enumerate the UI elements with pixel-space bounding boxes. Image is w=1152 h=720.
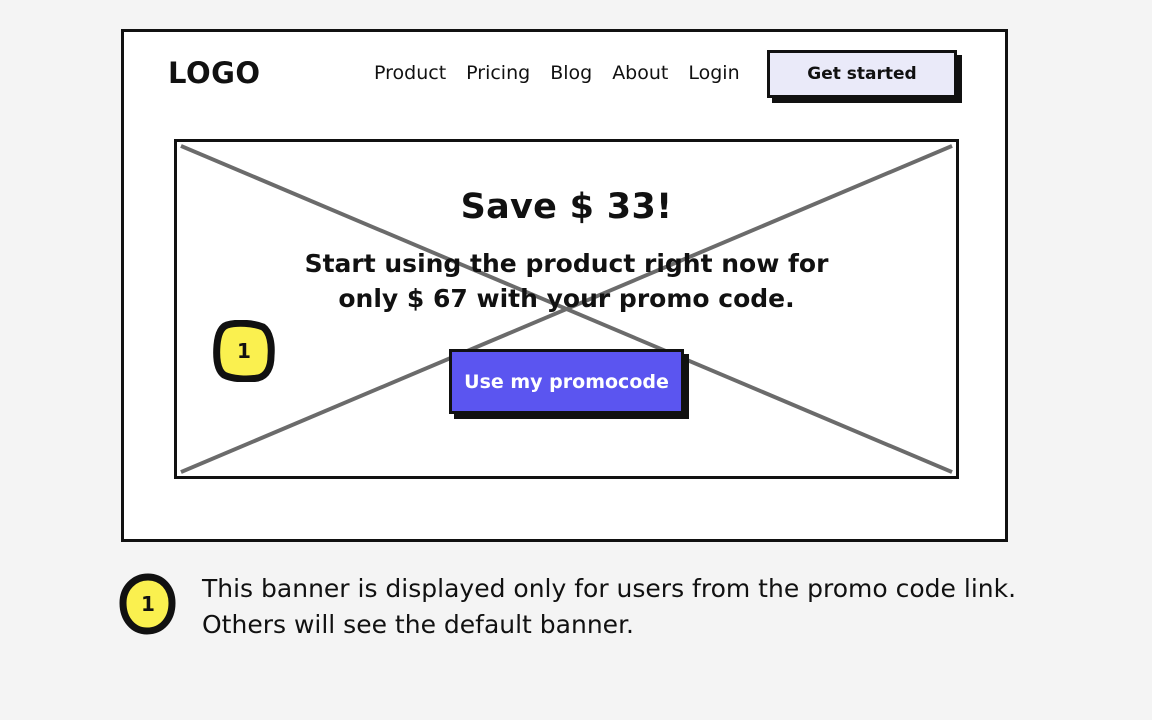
annotation-marker-1-note-label: 1 [119, 573, 177, 635]
nav-item-login[interactable]: Login [688, 62, 739, 84]
get-started-button[interactable]: Get started [767, 50, 957, 98]
main-navigation: Product Pricing Blog About Login [374, 62, 740, 84]
nav-item-about[interactable]: About [612, 62, 668, 84]
site-header: LOGO Product Pricing Blog About Login Ge… [124, 32, 1005, 128]
annotation-marker-1-banner-label: 1 [213, 320, 275, 382]
annotation-marker-1-note: 1 [119, 573, 177, 635]
nav-item-blog[interactable]: Blog [550, 62, 592, 84]
logo[interactable]: LOGO [168, 56, 261, 90]
wireframe-page-frame: LOGO Product Pricing Blog About Login Ge… [121, 29, 1008, 542]
annotation-marker-1-banner: 1 [213, 320, 275, 382]
promo-banner-placeholder: Save $ 33! Start using the product right… [174, 139, 959, 479]
annotation-note-text: This banner is displayed only for users … [202, 571, 1032, 642]
use-my-promocode-button[interactable]: Use my promocode [449, 349, 684, 414]
annotation-note: 1 This banner is displayed only for user… [119, 571, 1039, 642]
banner-content: Save $ 33! Start using the product right… [177, 142, 956, 476]
banner-subheadline: Start using the product right now for on… [302, 247, 832, 316]
nav-item-product[interactable]: Product [374, 62, 446, 84]
nav-item-pricing[interactable]: Pricing [466, 62, 530, 84]
use-my-promocode-button-label: Use my promocode [464, 371, 669, 393]
get-started-button-label: Get started [807, 64, 916, 84]
banner-headline: Save $ 33! [461, 187, 673, 227]
